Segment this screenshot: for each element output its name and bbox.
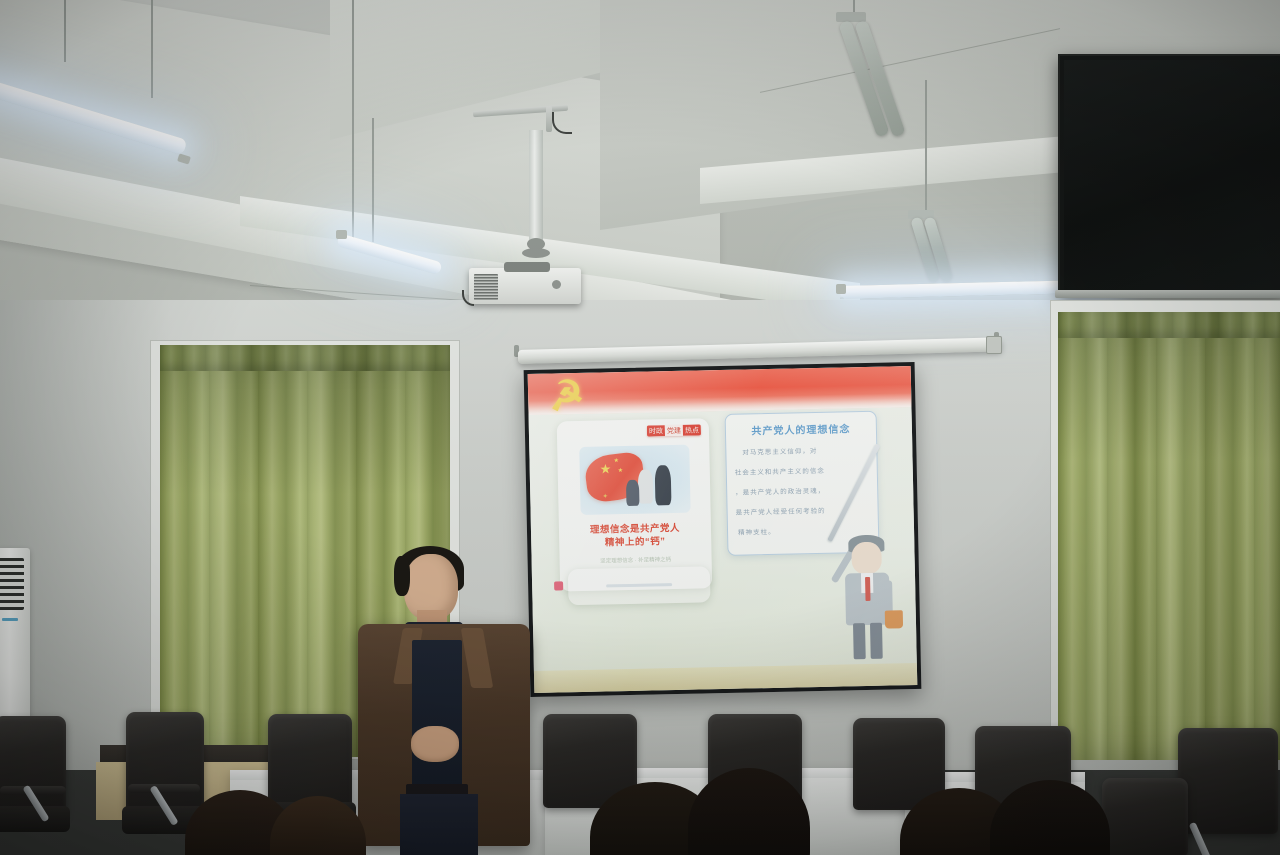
projection-screen: ☭ 时政 党建 热点 ★ ★ ★ ✦ [524, 362, 922, 697]
chip-label-1: 党建 [665, 425, 683, 436]
slide-card-illustration: ★ ★ ★ ✦ [579, 445, 690, 515]
light-endcap-right-wall [836, 284, 846, 294]
tv-mount-rail [1055, 290, 1280, 298]
chip-label-2: 热点 [683, 424, 701, 435]
light-rod-left-2 [151, 0, 153, 98]
slide-note-line-2: ，是共产党人的政治灵魂， [735, 485, 825, 497]
air-conditioner-badge [2, 618, 18, 621]
chip-label-0: 时政 [647, 425, 665, 436]
right-window-curtain[interactable] [1058, 312, 1280, 760]
chair-9-back [1102, 778, 1188, 855]
slide-note-title: 共产党人的理想信念 [726, 420, 876, 438]
illustration-accent-icon: ✦ [602, 493, 608, 500]
projector-adjust-knob [552, 280, 561, 289]
slide-card-title: 理想信念是共产党人 精神上的“钙” [565, 522, 706, 551]
slide-mascot [831, 534, 906, 665]
projector-mount-plate [522, 248, 550, 258]
slide-page-marker [554, 581, 563, 590]
projector-lens-housing [504, 262, 550, 272]
light-rod-left-1 [64, 0, 66, 62]
light-rod-mid-1 [352, 0, 354, 238]
right-curtain-sheen [1058, 312, 1280, 760]
presenter-hair-side [394, 556, 410, 596]
projector-mount-pole [529, 130, 543, 240]
illustration-figure-dark [655, 465, 672, 505]
mascot-left-leg [853, 623, 866, 659]
illustration-figure-light [638, 469, 654, 503]
slide-note-line-3: 是共产党人经受任何考验的 [736, 505, 826, 517]
slide-card-title-line2: 精神上的“钙” [565, 535, 705, 551]
screen-roller-end-cap [986, 336, 1002, 354]
presenter-shirt-front [412, 640, 462, 790]
projector-vent [474, 274, 498, 300]
mascot-pail [885, 610, 903, 628]
flag-star-small-2-icon: ★ [618, 468, 624, 474]
slide-left-card-shadow [568, 566, 711, 605]
hammer-and-sickle-icon: ☭ [546, 374, 587, 418]
chair-2-arm [128, 784, 200, 793]
slide-ghost-line [606, 583, 672, 587]
tv-screen [1064, 60, 1280, 290]
slide-left-card: 时政 党建 热点 ★ ★ ★ ✦ 理想信念是共产党人 精神上的“钙” [557, 418, 713, 591]
flag-star-big-icon: ★ [600, 462, 612, 475]
light-endcap-mid [336, 230, 347, 239]
air-conditioner-grill [0, 558, 24, 610]
slide-card-chip: 时政 党建 热点 [647, 424, 701, 436]
light-rod-right-hanging [925, 80, 927, 213]
slide-note-line-1: 社会主义和共产主义的信念 [735, 465, 825, 477]
presenter-trousers [400, 794, 478, 855]
wall-tv[interactable] [1058, 54, 1280, 296]
slide-note-line-0: 对马克思主义信仰，对 [742, 445, 817, 457]
mascot-tie [865, 577, 871, 601]
classroom-photo-scene: ☭ 时政 党建 热点 ★ ★ ★ ✦ [0, 0, 1280, 855]
light-rod-mid-2 [372, 118, 374, 242]
slide-bottom-band [534, 663, 917, 693]
illustration-figure-extra [626, 480, 640, 506]
slide-note-line-4: 精神支柱。 [738, 526, 776, 537]
slide-card-subtitle: 坚定理想信念 · 补足精神之钙 [570, 556, 702, 566]
chair-8-back [1178, 728, 1278, 834]
mascot-right-leg [870, 623, 883, 659]
presentation-slide: ☭ 时政 党建 热点 ★ ★ ★ ✦ [528, 366, 918, 693]
mascot-head [851, 542, 882, 575]
presenter-clasped-hands [411, 726, 459, 762]
flag-star-small-1-icon: ★ [613, 458, 619, 464]
